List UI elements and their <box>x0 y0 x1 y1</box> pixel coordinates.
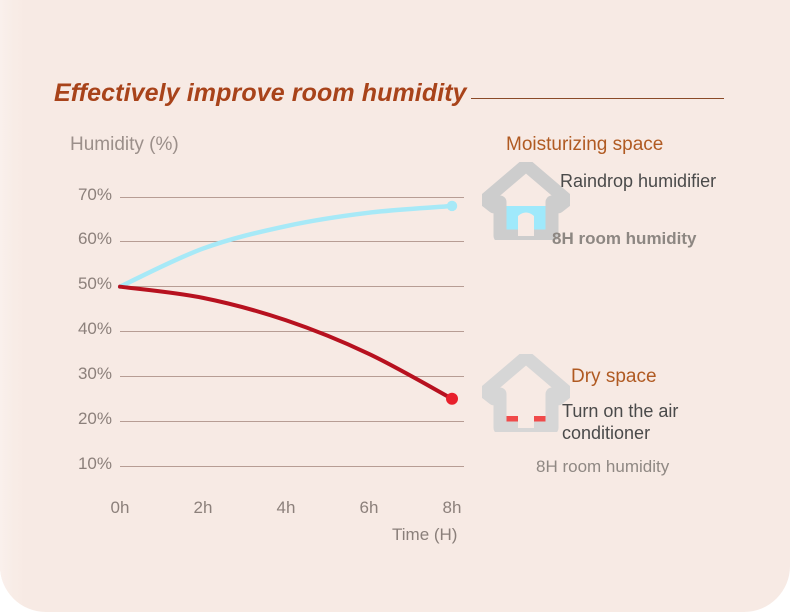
title-divider-rule <box>471 98 724 99</box>
gridline-30 <box>120 376 464 377</box>
y-tick-label-10: 10% <box>62 454 112 474</box>
gridline-10 <box>120 466 464 467</box>
series-line-1 <box>120 287 452 399</box>
series-endpoint-marker-1 <box>446 393 458 405</box>
x-tick-label-8h: 8h <box>443 498 462 518</box>
legend-subtitle-moisturizing: Raindrop humidifier <box>560 170 740 192</box>
house-icon <box>482 354 570 432</box>
gridline-50 <box>120 286 464 287</box>
legend-footnote-moisturizing: 8H room humidity <box>552 229 697 249</box>
gridline-40 <box>120 331 464 332</box>
promo-poster: Effectively improve room humidity Humidi… <box>0 0 790 612</box>
x-tick-label-6h: 6h <box>360 498 379 518</box>
y-tick-label-20: 20% <box>62 409 112 429</box>
y-axis-title: Humidity (%) <box>70 134 179 156</box>
gridline-20 <box>120 421 464 422</box>
legend-footnote-dry: 8H room humidity <box>536 457 669 477</box>
legend-moisturizing-space: Moisturizing space Raindrop humidifier 8… <box>478 134 768 254</box>
y-tick-label-50: 50% <box>62 274 112 294</box>
x-tick-label-4h: 4h <box>277 498 296 518</box>
x-axis-title: Time (H) <box>392 525 457 545</box>
legend-heading-moisturizing: Moisturizing space <box>506 134 663 156</box>
legend-heading-dry: Dry space <box>571 366 657 388</box>
y-tick-label-40: 40% <box>62 319 112 339</box>
legend-subtitle-dry: Turn on the air conditioner <box>562 400 742 444</box>
x-tick-label-2h: 2h <box>194 498 213 518</box>
x-tick-label-0h: 0h <box>111 498 130 518</box>
y-tick-label-30: 30% <box>62 364 112 384</box>
gridline-70 <box>120 197 464 198</box>
humidity-line-chart: Humidity (%) 70% 60% 50% 40% 30% 20% 10% <box>0 0 500 560</box>
series-endpoint-marker-0 <box>447 201 457 211</box>
y-tick-label-70: 70% <box>62 185 112 205</box>
gridline-60 <box>120 241 464 242</box>
y-tick-label-60: 60% <box>62 229 112 249</box>
series-line-0 <box>120 206 452 287</box>
legend-dry-space: Dry space Turn on the air conditioner 8H… <box>478 352 768 477</box>
